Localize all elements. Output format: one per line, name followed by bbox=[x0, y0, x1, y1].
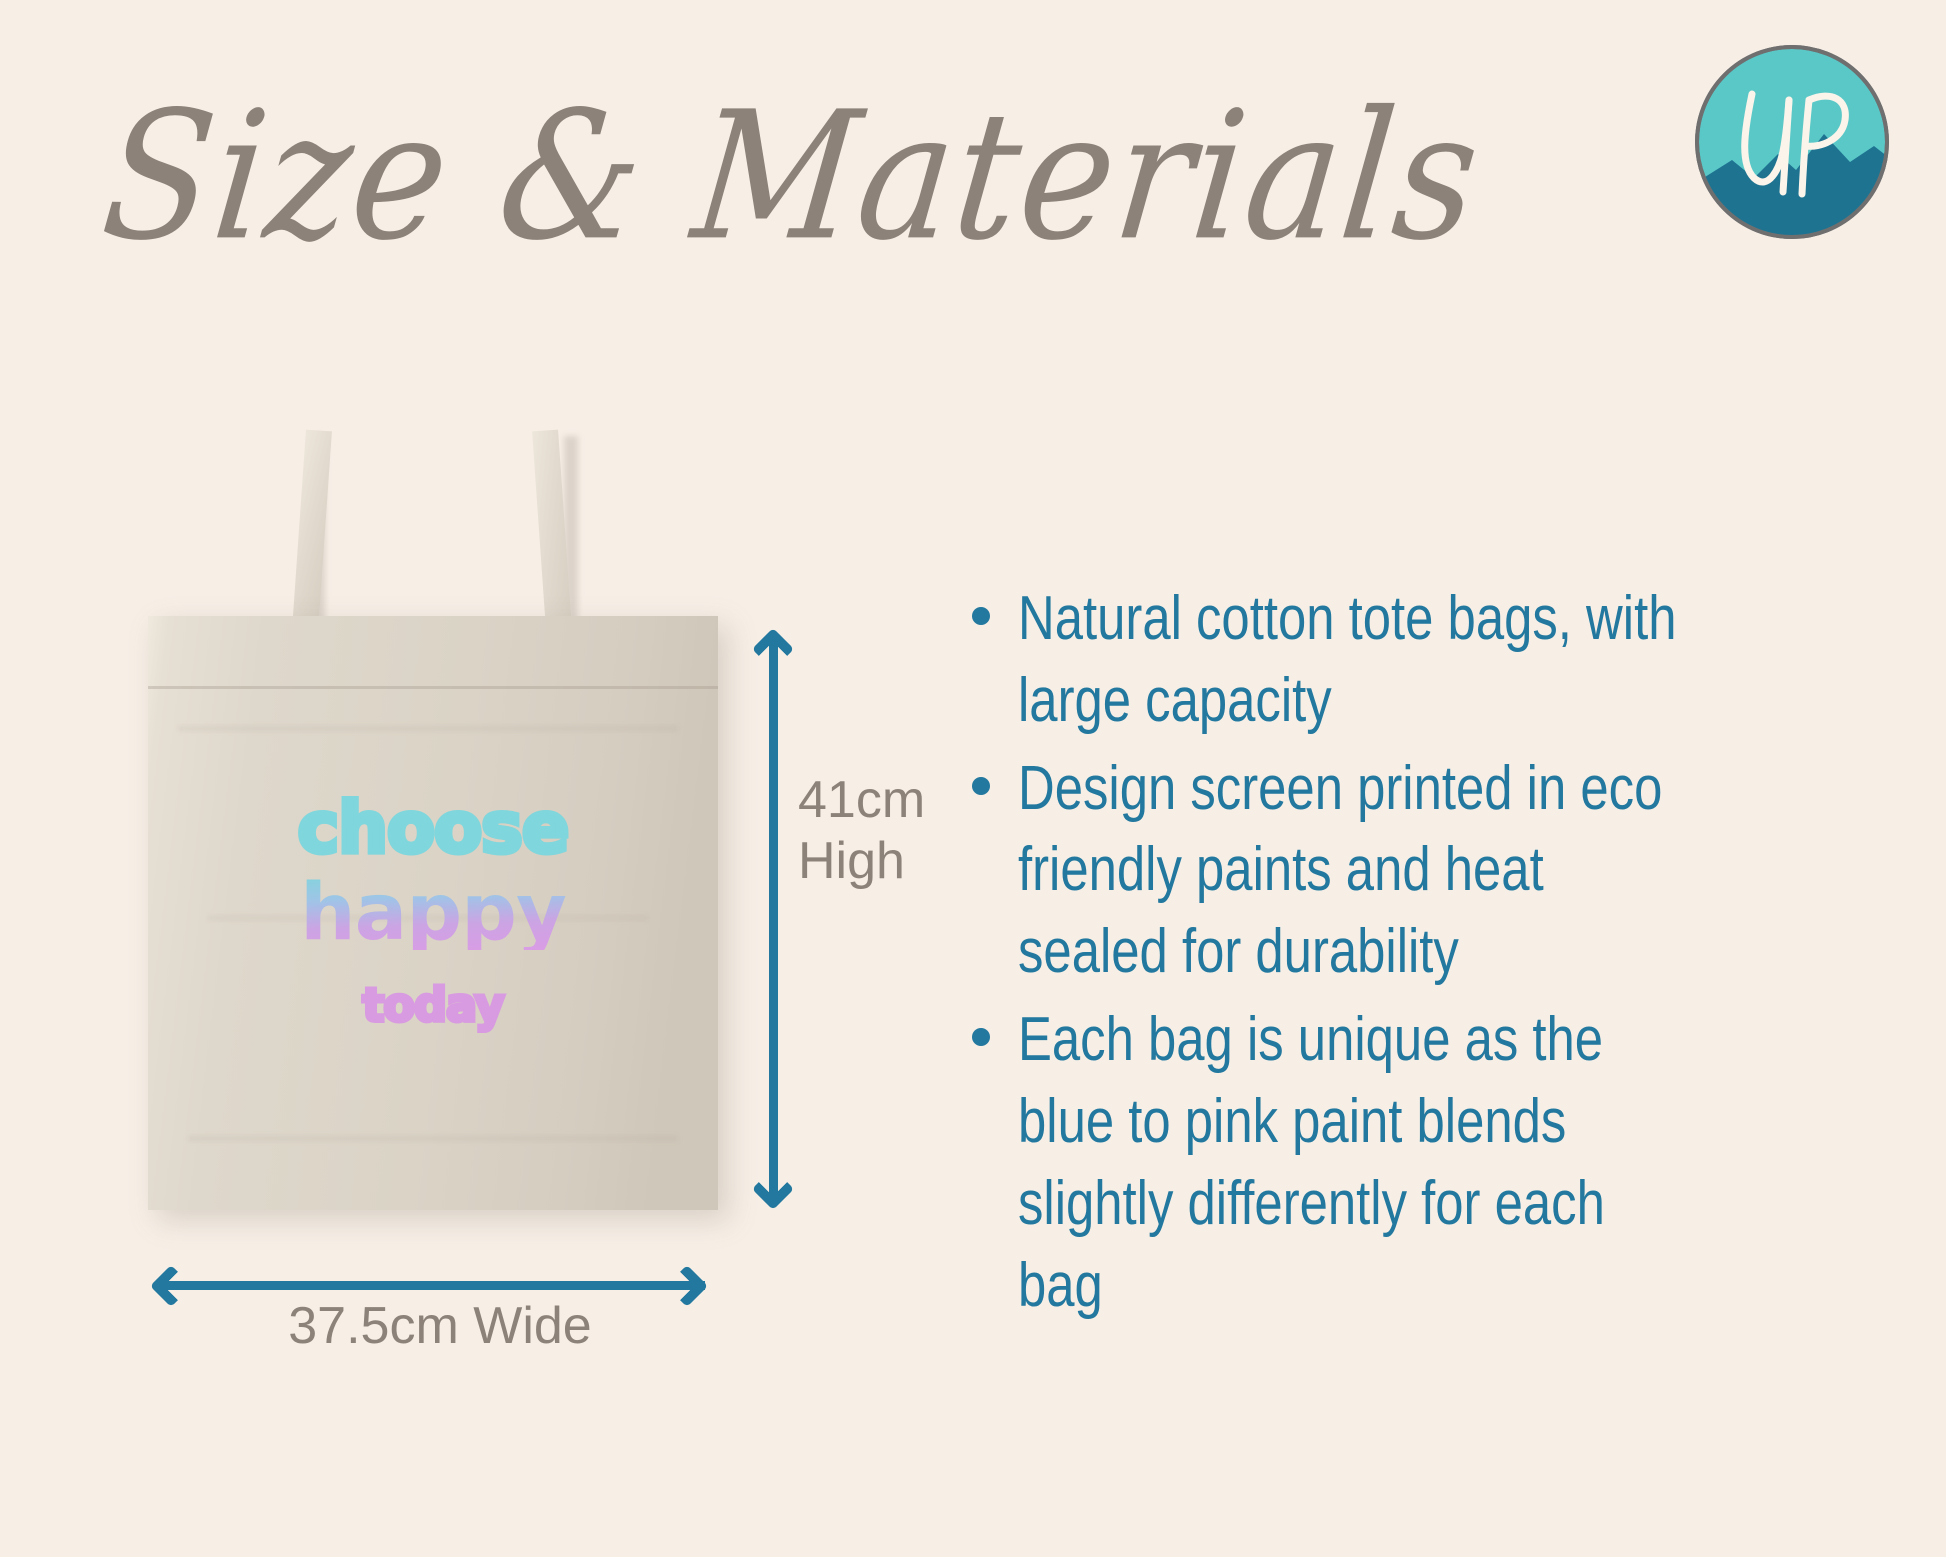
page-title: Size & Materials bbox=[95, 85, 1365, 271]
print-line-choose: choose bbox=[148, 796, 718, 861]
feature-text: Each bag is unique as the blue to pink p… bbox=[1018, 999, 1699, 1326]
print-line-happy: happy bbox=[148, 877, 718, 950]
bullet-icon bbox=[972, 607, 990, 625]
feature-text: Natural cotton tote bags, with large cap… bbox=[1018, 578, 1699, 742]
list-item: Natural cotton tote bags, with large cap… bbox=[968, 578, 1848, 742]
infographic-canvas: Size & Materials bbox=[0, 0, 1946, 1557]
brand-logo[interactable] bbox=[1692, 42, 1892, 242]
print-line-today: today bbox=[148, 984, 718, 1027]
logo-icon bbox=[1692, 42, 1892, 242]
feature-list: Natural cotton tote bags, with large cap… bbox=[968, 578, 1848, 1332]
bag-fold bbox=[178, 726, 678, 731]
height-arrow-head-top bbox=[752, 628, 794, 670]
bag-body: choose happy today bbox=[148, 616, 718, 1210]
list-item: Design screen printed in eco friendly pa… bbox=[968, 748, 1848, 993]
bag-screen-print: choose happy today bbox=[148, 796, 718, 1026]
bullet-icon bbox=[972, 1028, 990, 1046]
height-dimension-line bbox=[769, 640, 778, 1200]
bag-fold bbox=[188, 1136, 678, 1141]
height-arrow-head-bottom bbox=[752, 1168, 794, 1210]
width-dimension-label: 37.5cm Wide bbox=[160, 1296, 720, 1356]
bag-hem bbox=[148, 686, 718, 689]
width-dimension-line bbox=[160, 1281, 705, 1290]
feature-text: Design screen printed in eco friendly pa… bbox=[1018, 748, 1699, 993]
tote-bag-image: choose happy today bbox=[148, 430, 718, 1210]
list-item: Each bag is unique as the blue to pink p… bbox=[968, 999, 1848, 1326]
bullet-icon bbox=[972, 777, 990, 795]
bag-handle-left bbox=[292, 430, 332, 631]
